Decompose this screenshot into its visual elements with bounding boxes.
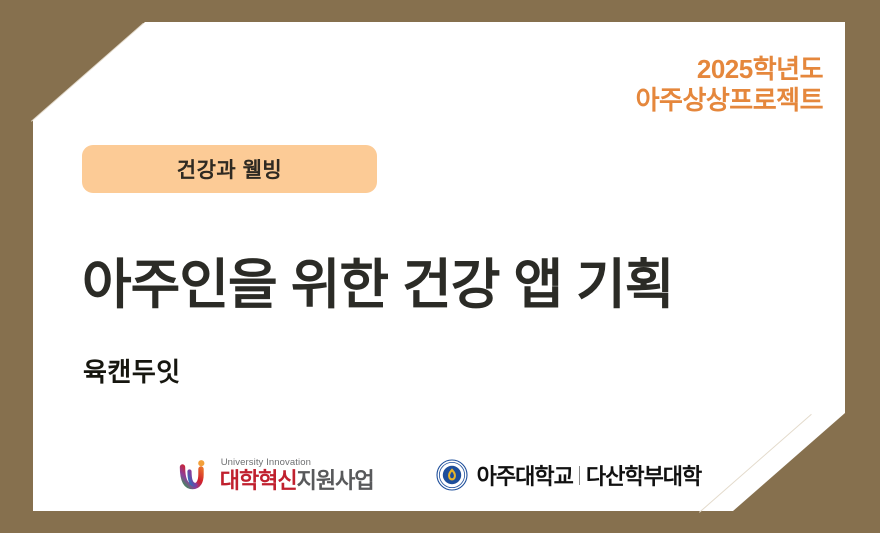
university-innovation-tagline: University Innovation	[221, 458, 374, 468]
ajou-university-logo-text: 아주대학교 다산학부대학	[477, 459, 702, 491]
university-innovation-korean-secondary: 지원사업	[297, 468, 374, 493]
university-innovation-logo-text: University Innovation 대학혁신지원사업	[220, 458, 374, 493]
ajou-university-logo: 아주대학교 다산학부대학	[436, 459, 702, 491]
category-badge: 건강과 웰빙	[82, 145, 377, 193]
ajou-university-name: 아주대학교	[477, 459, 573, 491]
ajou-college-name: 다산학부대학	[586, 459, 701, 491]
ajou-university-seal-icon	[436, 459, 468, 491]
ui-swoosh-icon	[177, 458, 211, 492]
program-name-label: 아주상상프로젝트	[636, 85, 823, 116]
presentation-slide: 2025학년도 아주상상프로젝트 건강과 웰빙 아주인을 위한 건강 앱 기획 …	[0, 0, 880, 533]
university-innovation-korean-primary: 대학혁신	[220, 468, 297, 493]
logo-row: University Innovation 대학혁신지원사업 아주대학교 다산학…	[33, 448, 845, 502]
university-innovation-logo: University Innovation 대학혁신지원사업	[177, 458, 374, 493]
ajou-logo-divider	[579, 466, 580, 485]
category-badge-label: 건강과 웰빙	[177, 154, 282, 184]
team-name: 육캔두잇	[83, 352, 181, 389]
program-year-label: 2025학년도	[636, 54, 823, 85]
page-title: 아주인을 위한 건강 앱 기획	[82, 240, 674, 319]
university-innovation-korean-name: 대학혁신지원사업	[220, 470, 374, 492]
program-header: 2025학년도 아주상상프로젝트	[636, 54, 823, 115]
